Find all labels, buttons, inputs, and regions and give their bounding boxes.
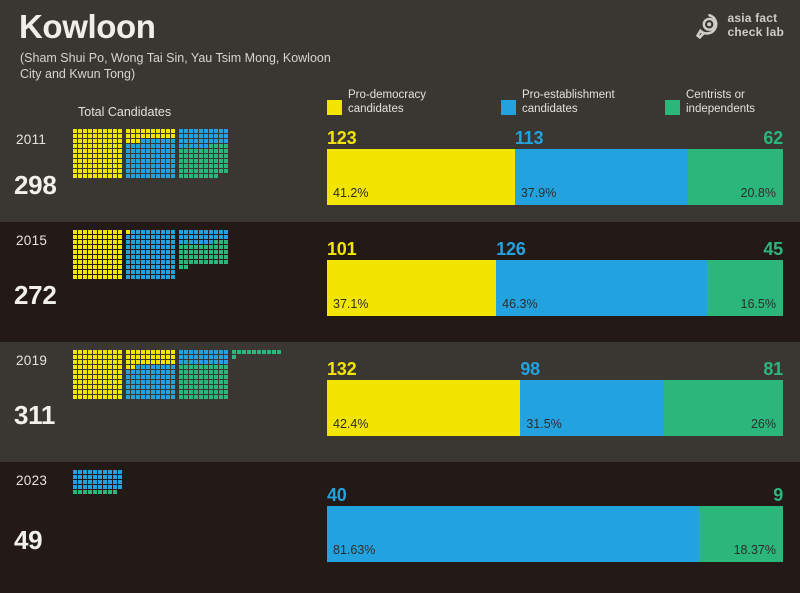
dot (98, 275, 102, 279)
dot (189, 169, 193, 173)
dot (103, 265, 107, 269)
dot (199, 164, 203, 168)
dot (136, 375, 140, 379)
dot (224, 235, 228, 239)
dot (136, 260, 140, 264)
dot (219, 245, 223, 249)
logo-line-1: asia fact (728, 12, 785, 26)
dot (146, 375, 150, 379)
dot (146, 365, 150, 369)
dot (103, 380, 107, 384)
dot (209, 230, 213, 234)
dot (204, 385, 208, 389)
dot (141, 265, 145, 269)
dot (108, 235, 112, 239)
dot (88, 164, 92, 168)
dot (214, 154, 218, 158)
dot (93, 260, 97, 264)
dot (108, 240, 112, 244)
dot (113, 470, 117, 474)
dot (136, 174, 140, 178)
dot (83, 129, 87, 133)
dot (108, 169, 112, 173)
dot (171, 230, 175, 234)
dot (171, 134, 175, 138)
dot (204, 245, 208, 249)
dot (214, 390, 218, 394)
dot (199, 149, 203, 153)
dot (103, 385, 107, 389)
dot (151, 395, 155, 399)
dot (194, 390, 198, 394)
dot (219, 360, 223, 364)
dot (141, 154, 145, 158)
dot-block (126, 230, 175, 279)
bar-count-prodemocracy: 101 (327, 239, 356, 260)
dot (161, 370, 165, 374)
dot (118, 355, 122, 359)
dot (199, 174, 203, 178)
row-year-label: 2019 (16, 353, 47, 368)
dot (209, 240, 213, 244)
bar-segment-centrist: 26% (664, 380, 783, 436)
dot (214, 255, 218, 259)
dot (141, 169, 145, 173)
dot (103, 350, 107, 354)
dot (118, 240, 122, 244)
dot (166, 169, 170, 173)
dot (189, 250, 193, 254)
dot (118, 169, 122, 173)
dot (78, 164, 82, 168)
row-total-value: 298 (14, 170, 56, 201)
dot (214, 149, 218, 153)
dot (156, 235, 160, 239)
dot (184, 385, 188, 389)
dot (219, 390, 223, 394)
dot (189, 235, 193, 239)
dot (166, 174, 170, 178)
dot (214, 360, 218, 364)
bar-segment-percent: 37.1% (333, 297, 368, 311)
dot (136, 255, 140, 259)
stacked-bar: 81.63%18.37% (327, 506, 783, 562)
dot (118, 260, 122, 264)
dot (214, 235, 218, 239)
dot (166, 129, 170, 133)
dot (171, 395, 175, 399)
dot (136, 235, 140, 239)
dot-matrix (73, 230, 228, 279)
dot (194, 350, 198, 354)
dot (219, 154, 223, 158)
dot (199, 365, 203, 369)
dot (73, 174, 77, 178)
dot (161, 275, 165, 279)
dot (184, 365, 188, 369)
dot (126, 134, 130, 138)
dot (151, 355, 155, 359)
dot (189, 255, 193, 259)
bar-segment-centrist: 18.37% (699, 506, 783, 562)
dot (161, 385, 165, 389)
dot (126, 235, 130, 239)
dot (204, 365, 208, 369)
dot (78, 270, 82, 274)
dot (184, 144, 188, 148)
dot (88, 355, 92, 359)
dot (131, 350, 135, 354)
dot (141, 139, 145, 143)
dot (136, 350, 140, 354)
dot (73, 144, 77, 148)
dot (118, 159, 122, 163)
dot (214, 169, 218, 173)
dot (224, 164, 228, 168)
dot (199, 380, 203, 384)
dot (103, 475, 107, 479)
dot (83, 275, 87, 279)
dot (272, 350, 276, 354)
dot (126, 129, 130, 133)
dot (161, 230, 165, 234)
dot (113, 355, 117, 359)
dot (141, 360, 145, 364)
dot (179, 154, 183, 158)
dot (73, 154, 77, 158)
dot (88, 169, 92, 173)
dot-matrix (73, 129, 228, 178)
dot (146, 149, 150, 153)
dot (156, 360, 160, 364)
dot (194, 370, 198, 374)
dot (214, 129, 218, 133)
dot (113, 134, 117, 138)
dot (126, 270, 130, 274)
dot (98, 154, 102, 158)
legend-item-prodemocracy: Pro-democracy candidates (327, 88, 426, 116)
dot (103, 240, 107, 244)
dot (98, 260, 102, 264)
dot (93, 385, 97, 389)
dot (166, 144, 170, 148)
dot (73, 485, 77, 489)
dot (179, 350, 183, 354)
dot (113, 164, 117, 168)
dot (171, 385, 175, 389)
dot (126, 275, 130, 279)
dot (136, 149, 140, 153)
dot (199, 370, 203, 374)
dot (78, 385, 82, 389)
dot (73, 240, 77, 244)
dot (108, 149, 112, 153)
bar-count-proestablishment: 113 (515, 128, 543, 149)
dot (156, 390, 160, 394)
dot (131, 230, 135, 234)
dot (219, 149, 223, 153)
dot (146, 395, 150, 399)
stacked-bar: 37.1%46.3%16.5% (327, 260, 783, 316)
dot (93, 154, 97, 158)
dot (151, 370, 155, 374)
dot (146, 270, 150, 274)
dot (108, 485, 112, 489)
dot (184, 260, 188, 264)
dot (108, 355, 112, 359)
dot (184, 375, 188, 379)
dot (156, 129, 160, 133)
dot (219, 385, 223, 389)
dot (171, 235, 175, 239)
dot (184, 395, 188, 399)
dot (194, 245, 198, 249)
dot (73, 395, 77, 399)
dot (156, 355, 160, 359)
dot (108, 245, 112, 249)
dot (194, 159, 198, 163)
dot (179, 375, 183, 379)
dot (98, 139, 102, 143)
dot (118, 164, 122, 168)
row-total-value: 49 (14, 525, 42, 556)
dot (184, 149, 188, 153)
dot (136, 144, 140, 148)
dot (184, 235, 188, 239)
dot (78, 365, 82, 369)
dot (93, 475, 97, 479)
dot (113, 375, 117, 379)
dot (209, 360, 213, 364)
bar-segment-prodemocracy: 41.2% (327, 149, 515, 205)
dot (189, 365, 193, 369)
dot (151, 230, 155, 234)
dot (179, 385, 183, 389)
dot (93, 159, 97, 163)
dot (108, 480, 112, 484)
dot (108, 395, 112, 399)
dot (171, 149, 175, 153)
dot (126, 149, 130, 153)
dot (78, 129, 82, 133)
dot (83, 260, 87, 264)
dot (224, 139, 228, 143)
dot (219, 169, 223, 173)
dot (88, 144, 92, 148)
stacked-bar: 41.2%37.9%20.8% (327, 149, 783, 205)
dot (126, 154, 130, 158)
bar-segment-centrist: 16.5% (707, 260, 783, 316)
dot (179, 245, 183, 249)
dot (103, 370, 107, 374)
dot (161, 390, 165, 394)
dot (98, 164, 102, 168)
dot (166, 245, 170, 249)
dot (214, 395, 218, 399)
dot (118, 149, 122, 153)
dot (88, 149, 92, 153)
dot (209, 169, 213, 173)
dot (73, 230, 77, 234)
dot (118, 475, 122, 479)
dot (146, 380, 150, 384)
dot (131, 270, 135, 274)
dot (141, 355, 145, 359)
dot (113, 230, 117, 234)
dot (219, 139, 223, 143)
dot (184, 370, 188, 374)
dot (161, 144, 165, 148)
dot (131, 390, 135, 394)
dot (78, 139, 82, 143)
dot (204, 235, 208, 239)
dot (78, 149, 82, 153)
dot (103, 390, 107, 394)
dot (88, 375, 92, 379)
dot (141, 174, 145, 178)
dot (189, 159, 193, 163)
dot (118, 245, 122, 249)
dot (103, 470, 107, 474)
dot (166, 365, 170, 369)
dot (98, 149, 102, 153)
dot (98, 485, 102, 489)
dot (209, 250, 213, 254)
dot (171, 270, 175, 274)
dot (214, 245, 218, 249)
dot (126, 380, 130, 384)
legend-label-prodemocracy: Pro-democracy candidates (348, 88, 426, 116)
dot (214, 350, 218, 354)
dot (204, 360, 208, 364)
dot (88, 240, 92, 244)
dot (93, 174, 97, 178)
dot (151, 245, 155, 249)
dot (113, 395, 117, 399)
dot (161, 350, 165, 354)
dot (166, 390, 170, 394)
dot (88, 250, 92, 254)
dot (224, 144, 228, 148)
dot (179, 144, 183, 148)
dot (166, 370, 170, 374)
dot (93, 275, 97, 279)
dot (219, 144, 223, 148)
dot (161, 129, 165, 133)
dot (136, 395, 140, 399)
legend: Pro-democracy candidates Pro-establishme… (327, 88, 783, 120)
bar-count-proestablishment: 98 (520, 359, 540, 380)
dot (194, 134, 198, 138)
dot (209, 385, 213, 389)
dot (131, 154, 135, 158)
dot (78, 475, 82, 479)
dot (224, 355, 228, 359)
dot (98, 385, 102, 389)
dot (141, 144, 145, 148)
dot (73, 275, 77, 279)
dot (184, 250, 188, 254)
dot (78, 235, 82, 239)
dot (161, 169, 165, 173)
dot (118, 370, 122, 374)
dot (131, 365, 135, 369)
dot (204, 139, 208, 143)
legend-item-proestablishment: Pro-establishment candidates (501, 88, 615, 116)
dot (113, 370, 117, 374)
dot (209, 235, 213, 239)
dot (171, 139, 175, 143)
dot (179, 380, 183, 384)
bar-count-proestablishment: 126 (496, 239, 525, 260)
dot (98, 129, 102, 133)
dot (136, 365, 140, 369)
dot (73, 260, 77, 264)
dot (108, 385, 112, 389)
matrix-header-label: Total Candidates (78, 105, 171, 119)
dot (204, 159, 208, 163)
dot (224, 245, 228, 249)
dot (161, 380, 165, 384)
dot (161, 355, 165, 359)
dot (73, 355, 77, 359)
dot (179, 134, 183, 138)
dot (118, 480, 122, 484)
dot (136, 385, 140, 389)
dot (93, 270, 97, 274)
dot (126, 255, 130, 259)
dot (171, 245, 175, 249)
dot (136, 230, 140, 234)
dot (126, 245, 130, 249)
dot (224, 149, 228, 153)
dot (161, 164, 165, 168)
dot (199, 350, 203, 354)
dot (146, 275, 150, 279)
dot (171, 380, 175, 384)
dot-block (179, 129, 228, 178)
dot (151, 360, 155, 364)
dot (156, 260, 160, 264)
bar-segment-percent: 81.63% (333, 543, 375, 557)
logo-text: asia fact check lab (728, 12, 785, 39)
dot (108, 255, 112, 259)
dot (108, 265, 112, 269)
dot (161, 260, 165, 264)
bar-chart: 409 81.63%18.37% (327, 484, 783, 562)
dot (126, 360, 130, 364)
dot (146, 154, 150, 158)
dot (209, 139, 213, 143)
dot (108, 470, 112, 474)
dot (108, 159, 112, 163)
dot (151, 350, 155, 354)
bar-segment-percent: 41.2% (333, 186, 368, 200)
dot (166, 380, 170, 384)
dot (108, 350, 112, 354)
dot (199, 245, 203, 249)
dot (224, 390, 228, 394)
bar-segment-proestablishment: 81.63% (327, 506, 699, 562)
dot-matrix (73, 350, 281, 399)
dot (98, 370, 102, 374)
dot (166, 250, 170, 254)
dot (103, 139, 107, 143)
dot (126, 395, 130, 399)
dot (224, 380, 228, 384)
dot (136, 265, 140, 269)
dot (194, 235, 198, 239)
